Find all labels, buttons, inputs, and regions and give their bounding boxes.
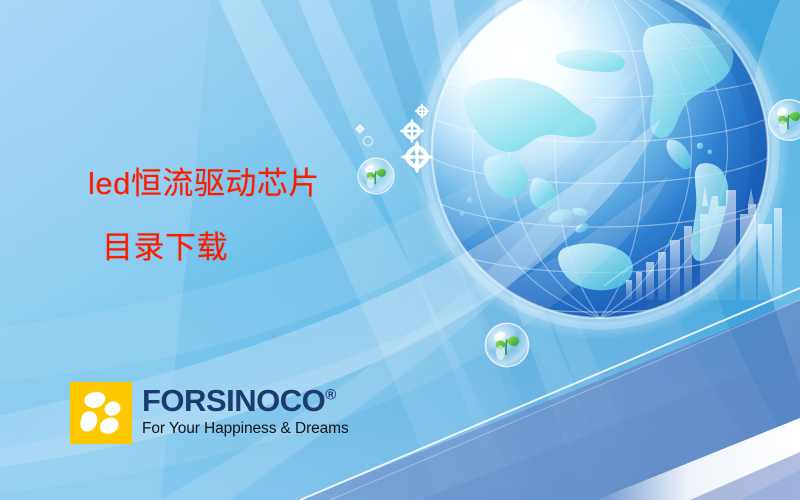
logo-text-block: FORSINOCO® For Your Happiness & Dreams	[142, 382, 349, 437]
bubble-group	[358, 100, 800, 367]
flower-sparkle-icon	[355, 124, 365, 134]
logo-mark-tile	[70, 382, 132, 444]
company-logo[interactable]: FORSINOCO® For Your Happiness & Dreams	[70, 382, 349, 444]
logo-wordmark-text: FORSINOCO	[142, 383, 325, 418]
flower-sparkle-icon	[401, 141, 433, 173]
small-bubble-icon	[363, 136, 372, 145]
slide-headline: led恒流驱动芯片 目录下载	[88, 163, 320, 269]
bubble-with-sprout-icon	[358, 158, 394, 194]
logo-tagline: For Your Happiness & Dreams	[142, 421, 349, 437]
registered-trademark-icon: ®	[325, 387, 336, 404]
headline-line-2: 目录下载	[102, 227, 320, 269]
flower-sparkle-icon	[400, 119, 424, 143]
headline-line-1: led恒流驱动芯片	[88, 166, 320, 201]
bubble-with-sprout-icon	[769, 100, 800, 141]
four-petal-flower-icon	[70, 382, 132, 444]
flower-sparkle-icon	[415, 104, 430, 119]
slide-canvas: led恒流驱动芯片 目录下载 FORSINOCO®	[0, 0, 800, 500]
bubble-with-sprout-icon	[485, 323, 528, 366]
logo-wordmark: FORSINOCO®	[142, 385, 349, 416]
